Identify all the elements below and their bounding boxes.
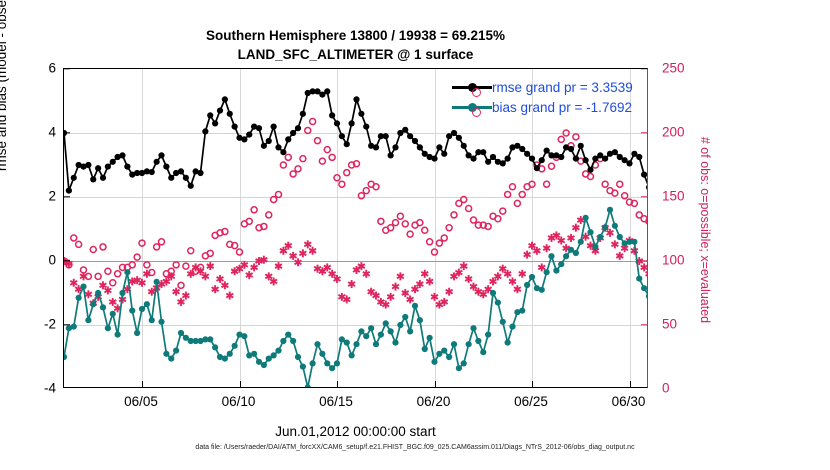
y-tick-label-left: 0: [0, 253, 56, 268]
y-tick-mark-right: [641, 68, 647, 69]
y-tick-label-left: -2: [0, 317, 56, 332]
legend-glyph-rmse: [452, 78, 492, 96]
y-tick-label-left: 4: [0, 125, 56, 140]
data-file-note: data file: /Users/raeder/DAI/ATM_forcXX/…: [0, 444, 830, 451]
y-tick-label-right: 150: [655, 189, 685, 204]
x-tick-mark: [240, 381, 241, 387]
x-tick-mark: [630, 381, 631, 387]
x-tick-label: 06/05: [124, 394, 158, 409]
y-axis-label-right: # of obs: o=possible; x=evaluated: [698, 70, 712, 390]
x-tick-label: 06/10: [222, 394, 256, 409]
legend-ring-icon: [472, 88, 481, 97]
series-line: [64, 210, 648, 388]
y-tick-label-right: 0: [655, 381, 670, 396]
x-tick-label: 06/20: [417, 394, 451, 409]
y-tick-mark-left: [64, 68, 70, 69]
x-tick-label: 06/15: [319, 394, 353, 409]
figure-canvas: Southern Hemisphere 13800 / 19938 = 69.2…: [0, 0, 830, 470]
x-tick-label: 06/25: [514, 394, 548, 409]
y-tick-label-left: 2: [0, 189, 56, 204]
y-tick-label-right: 200: [655, 125, 685, 140]
x-tick-mark: [142, 381, 143, 387]
y-tick-label-left: -4: [0, 381, 56, 396]
legend-glyph-bias: [452, 98, 492, 116]
legend: rmse grand pr = 3.3539 bias grand pr = -…: [452, 78, 633, 116]
x-axis-label: Jun.01,2012 00:00:00 start: [63, 424, 648, 439]
x-tick-mark: [337, 381, 338, 387]
y-tick-label-right: 100: [655, 253, 685, 268]
y-tick-mark-left: [64, 132, 70, 133]
y-tick-mark-right: [641, 260, 647, 261]
legend-item-bias[interactable]: bias grand pr = -1.7692: [452, 98, 633, 116]
y-tick-mark-right: [641, 132, 647, 133]
legend-ring-icon: [472, 108, 481, 117]
legend-label-rmse: rmse grand pr = 3.3539: [492, 80, 633, 95]
y-tick-mark-left: [64, 324, 70, 325]
series-filled-circle: [63, 207, 648, 388]
chart-title-block: Southern Hemisphere 13800 / 19938 = 69.2…: [63, 26, 648, 64]
y-tick-mark-right: [641, 324, 647, 325]
legend-label-bias: bias grand pr = -1.7692: [492, 100, 632, 115]
y-tick-mark-right: [641, 196, 647, 197]
chart-subtitle: LAND_SFC_ALTIMETER @ 1 surface: [63, 45, 648, 64]
y-tick-label-right: 250: [655, 61, 685, 76]
series-asterisk: [63, 216, 648, 388]
chart-title: Southern Hemisphere 13800 / 19938 = 69.2…: [63, 26, 648, 45]
legend-item-rmse[interactable]: rmse grand pr = 3.3539: [452, 78, 633, 96]
x-tick-label: 06/30: [612, 394, 646, 409]
y-tick-mark-left: [64, 260, 70, 261]
plot-area: [63, 68, 648, 388]
y-tick-mark-left: [64, 196, 70, 197]
x-tick-mark: [532, 381, 533, 387]
x-tick-mark: [435, 381, 436, 387]
y-tick-label-left: 6: [0, 61, 56, 76]
y-tick-label-right: 50: [655, 317, 677, 332]
series-layer: [64, 69, 648, 388]
